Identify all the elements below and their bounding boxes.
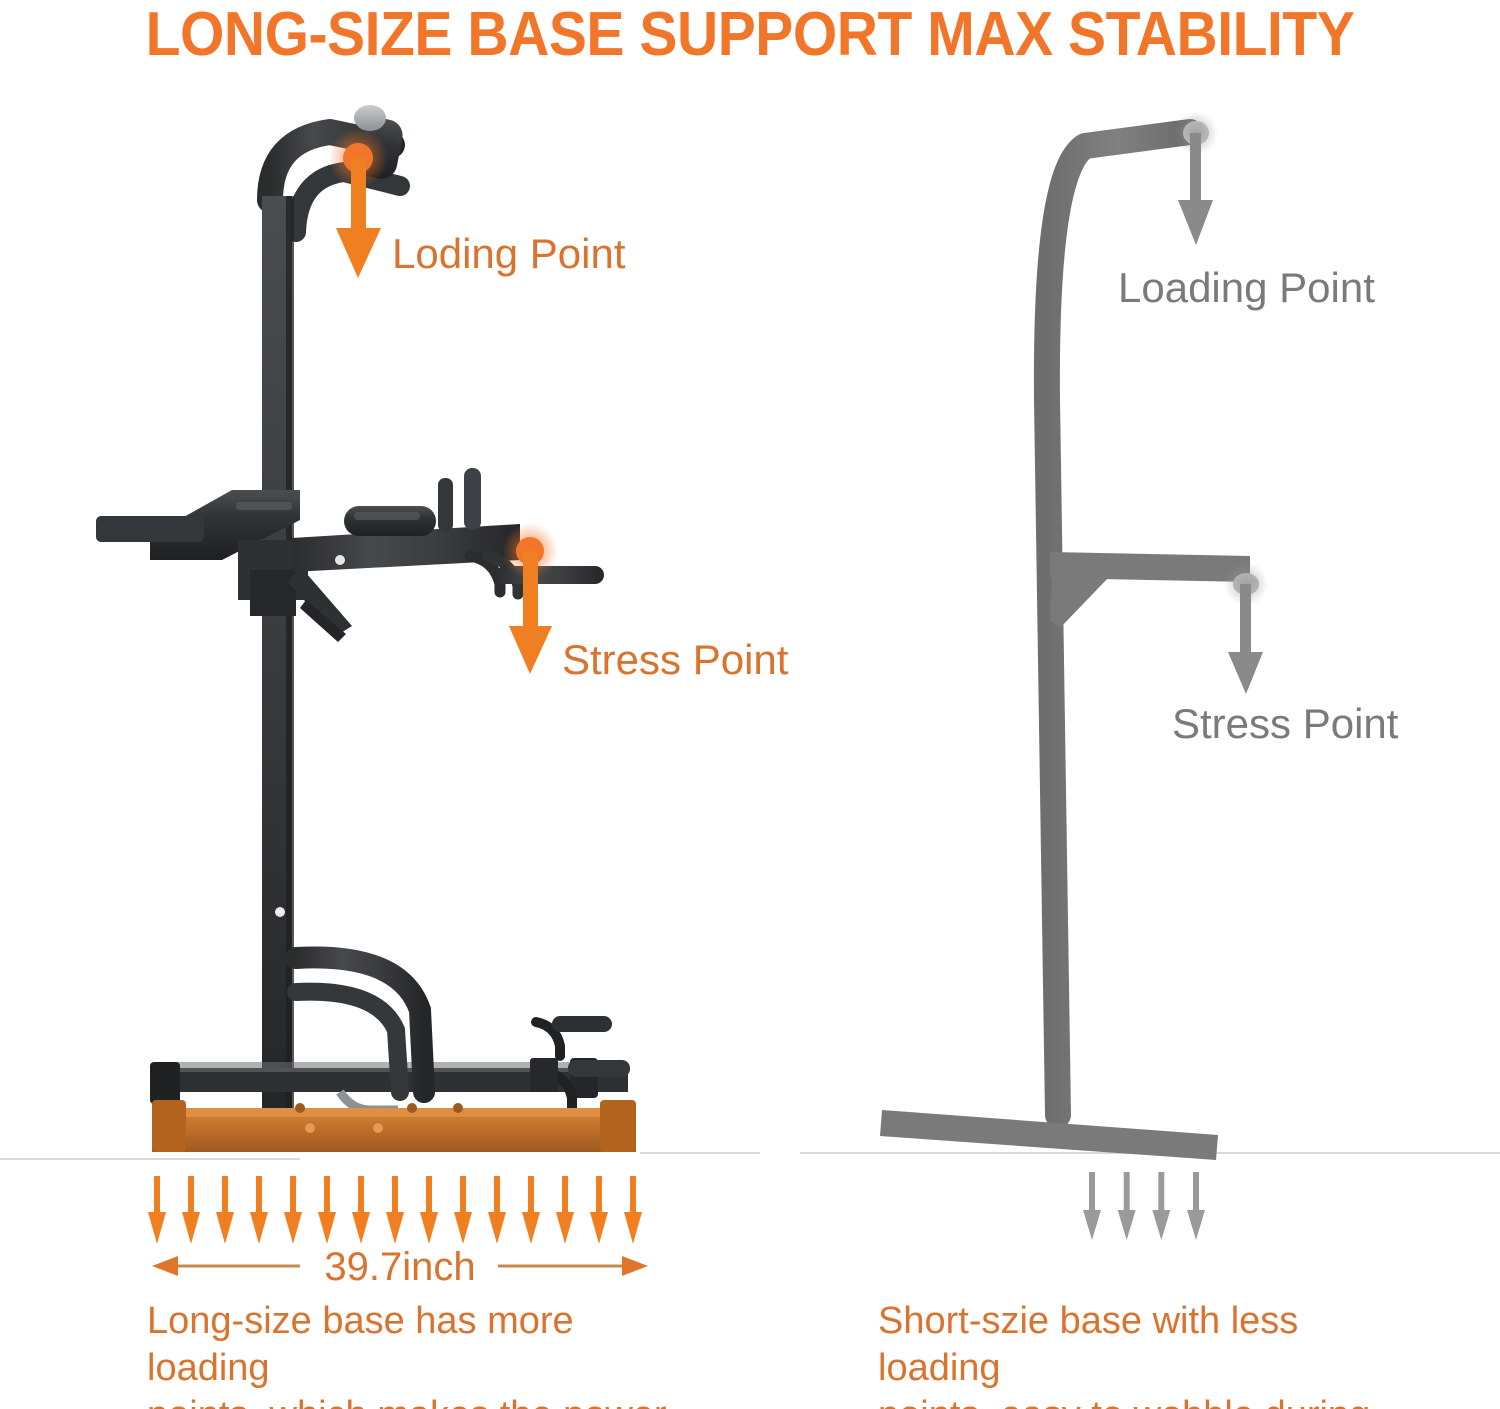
load-arrow-left-shaft-3 xyxy=(222,1176,228,1212)
long-base-bolt-2 xyxy=(373,1123,383,1133)
caption-right-panel: Short-szie base with less loading points… xyxy=(878,1298,1398,1409)
long-base-bolt-1 xyxy=(305,1123,315,1133)
pullup-bar-end-cap xyxy=(354,105,386,131)
load-arrow-left-head-2 xyxy=(182,1212,200,1244)
schematic-diagonal-brace xyxy=(1050,578,1108,628)
stress-point-glow xyxy=(502,523,558,579)
pushup-handle-bracket xyxy=(530,1058,558,1092)
long-base-beam xyxy=(152,1108,636,1152)
load-arrow-left-shaft-14 xyxy=(596,1176,602,1212)
load-arrow-left-head-8 xyxy=(386,1212,404,1244)
load-arrow-right-head-4 xyxy=(1187,1210,1205,1240)
annotation-loading-point-right xyxy=(1174,111,1218,245)
loding-point-arrow-head xyxy=(336,228,381,278)
loading-point-label-right: Loading Point xyxy=(1118,264,1375,312)
stress-point-arrow-shaft-right xyxy=(1240,584,1251,656)
load-arrow-left-shaft-11 xyxy=(494,1176,500,1212)
rear-support-arch-inner xyxy=(296,992,400,1092)
load-arrow-right-head-2 xyxy=(1118,1210,1136,1240)
stress-point-glow-right xyxy=(1224,562,1268,606)
ground-line-left-2 xyxy=(640,1152,760,1154)
load-arrow-left-shaft-10 xyxy=(460,1176,466,1212)
caption-left-line-1: Long-size base has more loading xyxy=(147,1298,687,1392)
dimension-row: 39.7inch xyxy=(150,1242,650,1296)
caption-right-line-2: points, easy to wobble during xyxy=(878,1392,1398,1409)
load-arrow-left-shaft-1 xyxy=(154,1176,160,1212)
load-arrow-right-head-1 xyxy=(1083,1210,1101,1240)
load-arrow-left-shaft-5 xyxy=(290,1176,296,1212)
rear-support-arch-outer xyxy=(296,957,424,1092)
caption-right-line-1: Short-szie base with less loading xyxy=(878,1298,1398,1392)
loding-point-glow xyxy=(328,128,388,188)
load-arrow-left-shaft-4 xyxy=(256,1176,262,1212)
frame-end-cap-left xyxy=(150,1062,180,1104)
load-arrow-left-head-10 xyxy=(454,1212,472,1244)
dimension-value: 39.7inch xyxy=(150,1242,650,1292)
loding-point-arrow-shaft xyxy=(351,158,366,233)
annotation-loding-point xyxy=(328,128,388,278)
vertical-grip-handle-back xyxy=(438,478,453,532)
backrest-bracket xyxy=(238,540,308,600)
load-arrow-left-head-7 xyxy=(352,1212,370,1244)
vertical-grip-handle-front xyxy=(464,468,481,530)
loading-point-arrow-shaft-right xyxy=(1190,133,1201,205)
long-base-screw-3 xyxy=(453,1103,463,1113)
load-arrow-row-left xyxy=(148,1176,642,1244)
arm-diagonal-brace-shadow xyxy=(300,600,346,642)
pushup-handle-curve-upper xyxy=(536,1022,560,1056)
caption-left-panel: Long-size base has more loading points, … xyxy=(147,1298,687,1409)
backrest-bracket-lower xyxy=(250,570,296,616)
pullup-bar-inner xyxy=(296,172,400,232)
loading-point-glow-right xyxy=(1174,111,1218,155)
foot-strap xyxy=(340,1092,398,1110)
post-adjust-hole xyxy=(275,907,285,917)
backrest-pad-highlight xyxy=(236,502,292,510)
arm-beam-hole xyxy=(335,555,345,565)
arm-beam xyxy=(292,524,520,572)
long-base-screw-1 xyxy=(295,1103,305,1113)
main-post-shadow-edge xyxy=(286,196,294,1131)
arm-diagonal-brace xyxy=(288,566,352,636)
load-arrow-left-head-6 xyxy=(318,1212,336,1244)
load-arrow-left-shaft-6 xyxy=(324,1176,330,1212)
pushup-handle-grip-upper xyxy=(552,1016,612,1032)
caption-left-line-2: points, which makes the power xyxy=(147,1392,687,1409)
infographic-page: LONG-SIZE BASE SUPPORT MAX STABILITY xyxy=(0,0,1500,1409)
load-arrow-left-head-5 xyxy=(284,1212,302,1244)
load-arrow-left-shaft-9 xyxy=(426,1176,432,1212)
annotation-stress-point xyxy=(502,523,558,674)
schematic-arm-end-cap xyxy=(1233,573,1259,595)
dip-handle-curve-back xyxy=(470,556,500,592)
pullup-grip-block xyxy=(351,114,406,181)
lower-frame-rail-highlight xyxy=(166,1062,622,1072)
load-arrow-right-shaft-3 xyxy=(1158,1172,1164,1210)
load-arrow-left-shaft-15 xyxy=(630,1176,636,1212)
stress-point-label-right: Stress Point xyxy=(1172,700,1398,748)
loding-point-label: Loding Point xyxy=(392,230,626,278)
load-arrow-left-head-15 xyxy=(624,1212,642,1244)
load-arrow-right-shaft-2 xyxy=(1124,1172,1130,1210)
load-arrow-left-shaft-12 xyxy=(528,1176,534,1212)
load-arrow-left-shaft-13 xyxy=(562,1176,568,1212)
long-base-top-highlight xyxy=(152,1108,636,1117)
load-arrow-left-head-12 xyxy=(522,1212,540,1244)
long-base-end-cap-right xyxy=(600,1100,636,1152)
load-arrow-left-head-9 xyxy=(420,1212,438,1244)
load-arrow-right-head-3 xyxy=(1152,1210,1170,1240)
pushup-handle-curve-lower xyxy=(548,1072,572,1110)
stress-point-label: Stress Point xyxy=(562,636,788,684)
load-arrow-left-head-13 xyxy=(556,1212,574,1244)
load-arrow-left-head-4 xyxy=(250,1212,268,1244)
stress-point-arrow-head-right xyxy=(1228,652,1263,694)
stress-point-arrow-shaft xyxy=(523,551,538,631)
forearm-pad-highlight xyxy=(354,512,420,520)
stress-point-arrow-head xyxy=(509,626,552,674)
load-arrow-left-shaft-2 xyxy=(188,1176,194,1212)
stress-point-dot xyxy=(516,537,544,565)
ground-line-right xyxy=(800,1152,1500,1154)
load-arrow-left-head-11 xyxy=(488,1212,506,1244)
page-title: LONG-SIZE BASE SUPPORT MAX STABILITY xyxy=(60,2,1440,68)
dip-handle-bar xyxy=(496,566,604,584)
schematic-top-cap xyxy=(1183,121,1209,145)
load-arrow-right-shaft-1 xyxy=(1089,1172,1095,1210)
pullup-bar-outer xyxy=(270,132,392,200)
lower-frame-rail xyxy=(160,1068,628,1092)
frame-end-cap-right xyxy=(570,1058,598,1098)
backrest-pad xyxy=(150,490,300,560)
load-arrow-right-shaft-4 xyxy=(1193,1172,1199,1210)
load-arrow-left-head-3 xyxy=(216,1212,234,1244)
forearm-pad xyxy=(344,506,436,536)
left-extension-arm xyxy=(96,516,204,542)
load-arrow-left-head-14 xyxy=(590,1212,608,1244)
ground-line-left xyxy=(0,1158,300,1160)
loding-point-dot xyxy=(343,143,373,173)
long-base-end-cap-left xyxy=(152,1100,186,1152)
main-vertical-post xyxy=(262,196,292,1131)
annotation-stress-point-right xyxy=(1224,562,1268,694)
load-arrow-row-right xyxy=(1083,1172,1205,1240)
load-arrow-left-head-1 xyxy=(148,1212,166,1244)
pushup-handle-grip-lower xyxy=(568,1060,630,1077)
load-arrow-left-shaft-8 xyxy=(392,1176,398,1212)
loading-point-arrow-head-right xyxy=(1178,200,1213,245)
schematic-horizontal-arm xyxy=(1050,552,1250,582)
load-arrow-left-shaft-7 xyxy=(358,1176,364,1212)
dip-handle-curve-front xyxy=(488,556,518,594)
long-base-screw-2 xyxy=(407,1103,417,1113)
